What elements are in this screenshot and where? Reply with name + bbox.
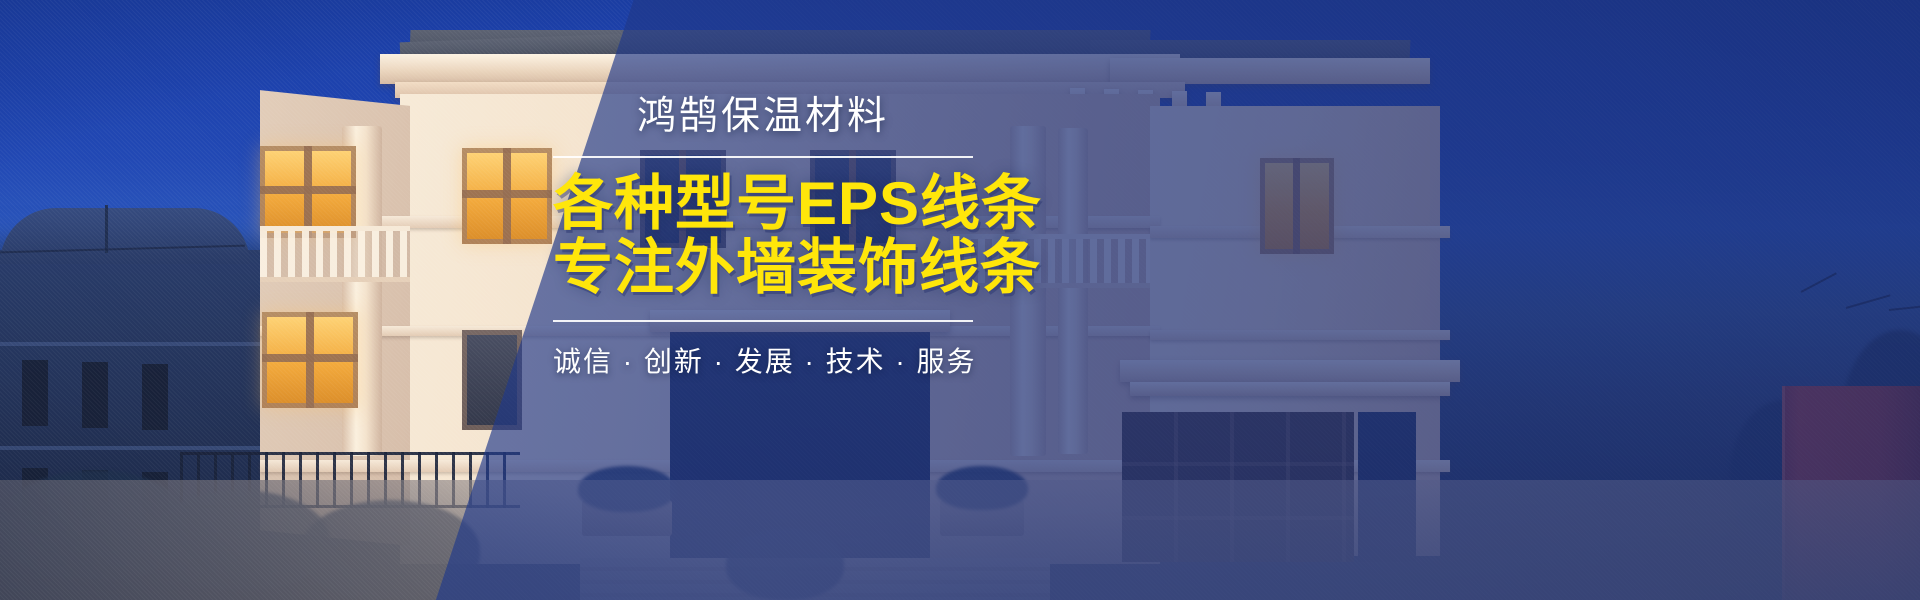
column: [1058, 128, 1088, 454]
window-lit: [462, 148, 552, 244]
headline-line-1: 各种型号EPS线条: [553, 172, 973, 236]
balustrade: [260, 226, 410, 282]
window-dark: [462, 330, 522, 430]
tagline: 诚信 · 创新 · 发展 · 技术 · 服务: [553, 340, 973, 380]
window-lit: [260, 146, 356, 238]
ground-shadow: [0, 480, 1920, 600]
banner-text-block: 鸿鹄保温材料 各种型号EPS线条 专注外墙装饰线条 诚信 · 创新 · 发展 ·…: [553, 96, 973, 380]
window-lit: [1260, 158, 1334, 254]
window-lit: [262, 312, 358, 408]
background-mast: [105, 205, 108, 253]
branch: [1889, 305, 1920, 311]
branch: [1801, 272, 1837, 293]
divider-top: [553, 156, 973, 158]
branch: [1846, 294, 1891, 309]
headline-line-2: 专注外墙装饰线条: [553, 236, 973, 300]
hero-banner: 鸿鹄保温材料 各种型号EPS线条 专注外墙装饰线条 诚信 · 创新 · 发展 ·…: [0, 0, 1920, 600]
brand-name: 鸿鹄保温材料: [553, 96, 973, 139]
divider-bottom: [553, 320, 973, 322]
